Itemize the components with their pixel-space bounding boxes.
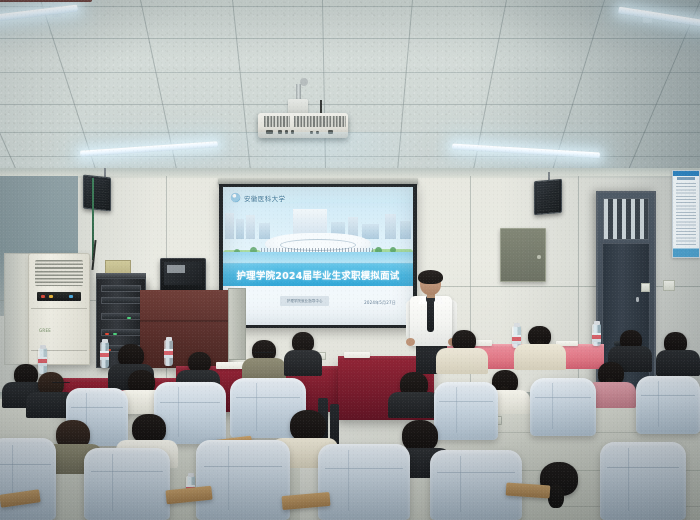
seat-crease — [456, 387, 457, 433]
ac-brand-label: GREE — [39, 328, 51, 333]
water-bottle[interactable] — [100, 342, 109, 368]
podium-monitor[interactable] — [160, 258, 206, 292]
ac-panel-seam — [31, 308, 87, 309]
bottle-cap — [514, 323, 520, 327]
papers-on-table — [344, 352, 370, 358]
podium-side-cabinet — [228, 288, 246, 360]
panel-member-shoulders — [656, 350, 700, 376]
auditorium-seat[interactable] — [0, 438, 56, 520]
ac-indicator-led — [49, 295, 53, 298]
rack-led-indicator — [105, 333, 109, 335]
ceiling — [0, 0, 700, 172]
bottle-cap — [594, 321, 600, 325]
speaker-grill — [86, 178, 108, 208]
panel-latch[interactable] — [537, 255, 541, 259]
wall-notice-poster — [672, 170, 700, 258]
seat-crease — [658, 381, 659, 427]
auditorium-seat[interactable] — [530, 378, 596, 436]
seat-crease — [228, 446, 229, 510]
rack-led-indicator — [113, 333, 117, 335]
door-transom-window — [603, 198, 649, 240]
light-switch-plate[interactable] — [641, 283, 650, 292]
wall-speaker-right — [534, 179, 562, 215]
seat-crease — [112, 454, 113, 512]
bottle-cap — [102, 339, 108, 343]
rack-unit[interactable] — [101, 297, 141, 304]
light-switch-plate[interactable] — [663, 280, 675, 291]
cabinet-beside-ac — [4, 253, 30, 365]
bottle-label-stripe — [100, 353, 109, 357]
projection-screen: 安徽医科大学 — [219, 184, 417, 328]
projector-vent — [294, 116, 320, 127]
ponytail — [548, 484, 564, 508]
presentation-slide: 安徽医科大学 — [223, 187, 413, 325]
projector-ceiling-anchor — [300, 78, 308, 86]
poster-title-bar — [677, 177, 695, 180]
water-bottle[interactable] — [592, 324, 601, 346]
auditorium-seat[interactable] — [318, 444, 410, 520]
projector-light-glow — [200, 132, 440, 172]
podium-worktop — [0, 0, 92, 2]
projector-vent — [320, 116, 346, 127]
panel-member-shoulders — [436, 348, 488, 374]
door-highlight — [636, 297, 639, 302]
ac-air-vent — [35, 260, 83, 286]
wall-speaker-left — [83, 175, 111, 212]
audience-shoulders — [388, 392, 440, 418]
auditorium-seat[interactable] — [600, 442, 686, 520]
panel-member-shoulders — [514, 344, 566, 370]
bottle-label-stripe — [38, 359, 47, 363]
lecture-hall-photo: 安徽医科大学 — [0, 0, 700, 520]
rack-led-indicator — [127, 317, 131, 319]
presenter-tie — [427, 298, 434, 332]
bottle-cap — [166, 337, 172, 341]
seat-crease — [348, 450, 349, 511]
podium-edge — [140, 320, 228, 322]
auditorium-seat[interactable] — [196, 440, 290, 520]
seat-crease — [460, 456, 461, 512]
auditorium-seat[interactable] — [434, 382, 498, 440]
speaker-grill — [537, 182, 559, 212]
auditorium-seat[interactable] — [636, 376, 700, 434]
seat-crease — [178, 387, 179, 437]
seat-crease — [628, 448, 629, 510]
presenter-podium[interactable] — [140, 290, 228, 368]
electrical-access-panel[interactable] — [500, 228, 546, 282]
water-bottle[interactable] — [38, 348, 47, 374]
eyeglasses — [52, 382, 70, 385]
screen-vignette — [223, 187, 413, 325]
rack-unit[interactable] — [101, 285, 141, 292]
eyeglasses — [254, 352, 274, 355]
bottle-cap — [188, 473, 194, 477]
presenter-hair — [418, 270, 443, 284]
poster-text-lines — [676, 183, 696, 247]
seat-crease — [256, 383, 257, 431]
monitor-glare — [167, 265, 185, 273]
rack-unit[interactable] — [101, 313, 141, 320]
bottle-label-stripe — [164, 351, 173, 355]
ac-indicator-led — [69, 295, 73, 298]
bottle-label-stripe — [592, 335, 601, 339]
seat-crease — [552, 383, 553, 429]
water-bottle[interactable] — [164, 340, 173, 366]
projector-vent — [264, 116, 290, 127]
monitor-screen — [164, 262, 202, 285]
bottle-label-stripe — [512, 337, 521, 341]
audience-shoulders — [284, 350, 322, 376]
bottle-cap — [40, 345, 46, 349]
presenter-hand — [406, 338, 415, 346]
ac-indicator-led — [41, 295, 45, 298]
auditorium-seat[interactable] — [84, 448, 170, 520]
